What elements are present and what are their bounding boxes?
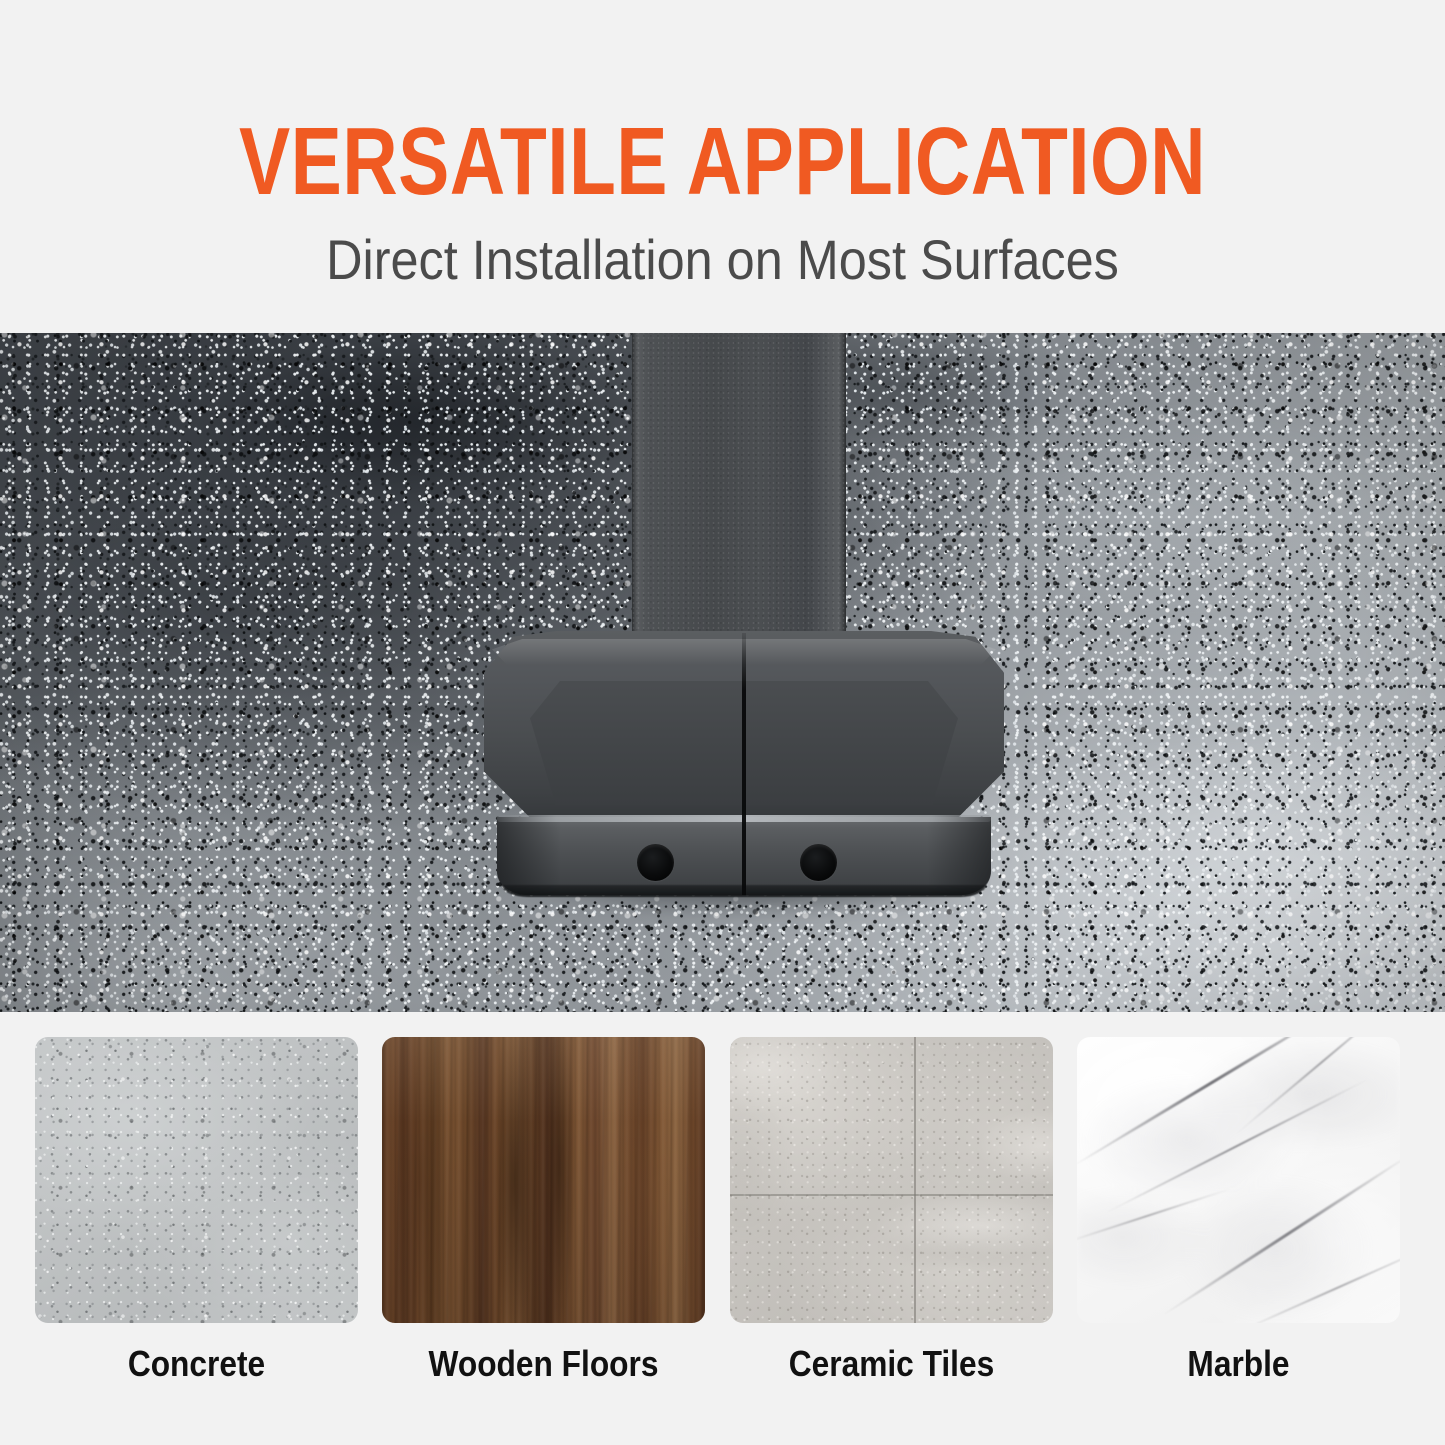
- mounting-hole-right: [800, 844, 837, 881]
- swatch-label-marble: Marble: [1096, 1342, 1380, 1386]
- marble-swatch: [1077, 1037, 1400, 1323]
- page-title: VERSATILE APPLICATION: [145, 112, 1301, 212]
- concrete-swatch: [35, 1037, 358, 1323]
- surface-swatch-strip: Concrete Wooden Floors Ceramic Tiles Mar…: [0, 1012, 1445, 1445]
- swatch-cell-wooden-floors: [382, 1037, 705, 1323]
- product-feature-page: VERSATILE APPLICATION Direct Installatio…: [0, 0, 1445, 1445]
- tile-grout-line-vertical: [914, 1037, 916, 1323]
- post-base-assembly: [0, 333, 1445, 1012]
- base-cover-split-seam: [742, 633, 746, 895]
- page-subtitle: Direct Installation on Most Surfaces: [72, 227, 1373, 293]
- concrete-grit-coarse: [35, 1037, 358, 1323]
- swatch-cell-ceramic-tiles: [730, 1037, 1053, 1323]
- swatch-cell-marble: [1077, 1037, 1400, 1323]
- swatch-label-wooden-floors: Wooden Floors: [402, 1342, 686, 1386]
- tile-grout-line-horizontal: [730, 1194, 1053, 1196]
- wood-sheen: [382, 1037, 705, 1323]
- header-band: VERSATILE APPLICATION Direct Installatio…: [0, 0, 1445, 333]
- ceramic-tiles-swatch: [730, 1037, 1053, 1323]
- swatch-row: [35, 1037, 1400, 1323]
- swatch-label-row: Concrete Wooden Floors Ceramic Tiles Mar…: [35, 1342, 1400, 1386]
- mounting-hole-left: [637, 844, 674, 881]
- swatch-label-concrete: Concrete: [54, 1342, 338, 1386]
- wooden-floors-swatch: [382, 1037, 705, 1323]
- hero-photo: [0, 333, 1445, 1012]
- swatch-label-ceramic-tiles: Ceramic Tiles: [749, 1342, 1033, 1386]
- swatch-cell-concrete: [35, 1037, 358, 1323]
- tile-veining: [730, 1037, 1053, 1323]
